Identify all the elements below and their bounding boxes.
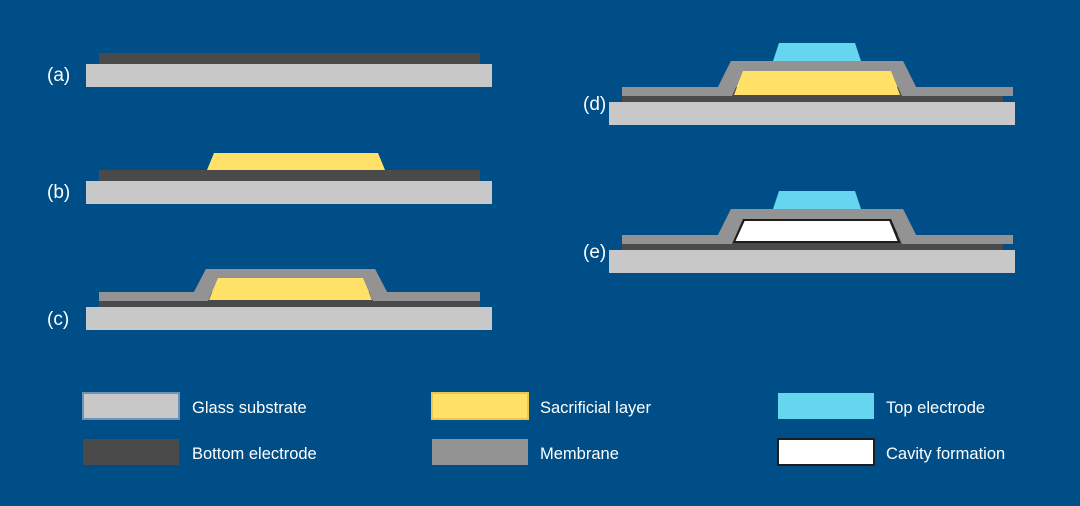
legend-label-bottom-electrode: Bottom electrode	[192, 445, 317, 463]
legend-label-glass-substrate: Glass substrate	[192, 399, 307, 417]
legend-label-top-electrode: Top electrode	[886, 399, 985, 417]
panel-e-label: (e)	[583, 242, 606, 263]
panel-e-top-electrode	[773, 191, 861, 209]
panel-b-label: (b)	[47, 182, 70, 203]
legend-label-membrane: Membrane	[540, 445, 619, 463]
panel-c-sacrificial-layer-front	[209, 278, 372, 300]
panel-b-sacrificial-layer	[207, 153, 385, 170]
panel-d-top-electrode	[773, 43, 861, 61]
legend-swatch-top-electrode	[778, 393, 874, 419]
panel-d-sacrificial-layer-front	[734, 71, 900, 95]
panel-a: (a)	[47, 53, 492, 87]
panel-a-label: (a)	[47, 65, 70, 86]
panel-d-glass-substrate	[609, 102, 1015, 125]
panel-b-bottom-electrode	[99, 170, 480, 181]
legend-swatch-glass-substrate	[83, 393, 179, 419]
process-flow-figure: (a) (b) (c) (d) (e)	[0, 0, 1080, 506]
panel-c-glass-substrate	[86, 307, 492, 330]
legend-swatch-membrane	[432, 439, 528, 465]
panel-d-label: (d)	[583, 94, 606, 115]
panel-e-cavity-front	[734, 220, 899, 242]
panel-a-bottom-electrode	[99, 53, 480, 64]
legend-label-cavity-formation: Cavity formation	[886, 445, 1005, 463]
legend-swatch-bottom-electrode	[83, 439, 179, 465]
panel-b-glass-substrate	[86, 181, 492, 204]
panel-e-glass-substrate	[609, 250, 1015, 273]
panel-a-glass-substrate	[86, 64, 492, 87]
legend-label-sacrificial-layer: Sacrificial layer	[540, 399, 651, 417]
panel-c-label: (c)	[47, 309, 69, 330]
legend-swatch-sacrificial-layer	[432, 393, 528, 419]
legend-swatch-cavity-formation	[778, 439, 874, 465]
